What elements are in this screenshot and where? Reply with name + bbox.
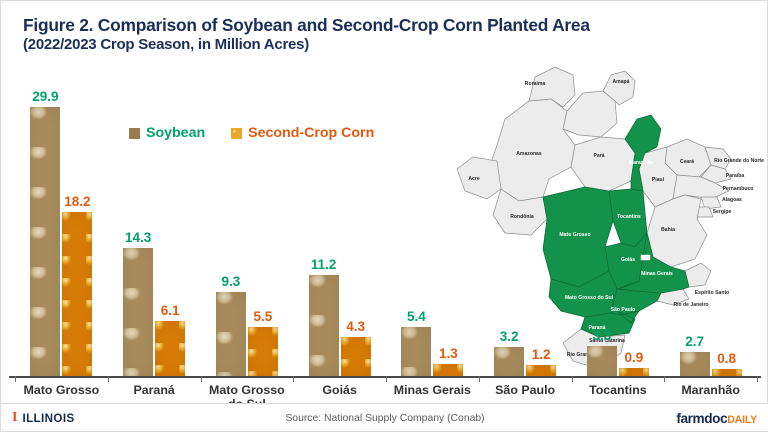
value-label-corn-5: 1.2 [520, 347, 562, 362]
bar-corn-4 [433, 364, 463, 376]
x-axis-tick [664, 376, 665, 382]
x-axis-tick [479, 376, 480, 382]
x-axis-tick [15, 376, 16, 382]
value-label-corn-3: 4.3 [335, 319, 377, 334]
value-label-soy-3: 11.2 [303, 257, 345, 272]
value-label-corn-6: 0.9 [613, 350, 655, 365]
value-label-soy-0: 29.9 [24, 89, 66, 104]
category-label-4: Minas Gerais [386, 383, 479, 397]
x-axis-tick [108, 376, 109, 382]
category-label-0: Mato Grosso [15, 383, 108, 397]
value-label-soy-4: 5.4 [395, 309, 437, 324]
x-axis-tick [757, 376, 758, 382]
figure-footer: I ILLINOIS Source: National Supply Compa… [1, 403, 768, 431]
source-note: Source: National Supply Company (Conab) [1, 413, 768, 424]
bar-soy-0 [30, 107, 60, 376]
bar-chart-plot: 29.918.214.36.19.35.511.24.35.41.33.21.2… [1, 59, 768, 379]
bar-corn-2 [248, 327, 278, 376]
farmdoc-daily-logo: farmdoc DAILY [676, 411, 757, 426]
x-axis-tick [386, 376, 387, 382]
bar-corn-7 [712, 369, 742, 376]
x-axis-tick [572, 376, 573, 382]
figure-canvas: Figure 2. Comparison of Soybean and Seco… [0, 0, 768, 432]
bar-soy-2 [216, 292, 246, 376]
category-label-5: São Paulo [479, 383, 572, 397]
bar-corn-5 [526, 365, 556, 376]
value-label-corn-0: 18.2 [56, 194, 98, 209]
value-label-soy-5: 3.2 [488, 329, 530, 344]
x-axis-tick [201, 376, 202, 382]
value-label-corn-2: 5.5 [242, 309, 284, 324]
category-label-7: Maranhão [664, 383, 757, 397]
value-label-soy-7: 2.7 [674, 334, 716, 349]
x-axis-line [9, 376, 761, 378]
value-label-corn-4: 1.3 [427, 346, 469, 361]
daily-wordmark: DAILY [727, 414, 757, 426]
value-label-corn-7: 0.8 [706, 351, 748, 366]
value-label-corn-1: 6.1 [149, 303, 191, 318]
category-label-3: Goiás [293, 383, 386, 397]
category-label-6: Tocantins [572, 383, 665, 397]
value-label-soy-1: 14.3 [117, 230, 159, 245]
bar-corn-1 [155, 321, 185, 376]
bar-corn-0 [62, 212, 92, 376]
bar-corn-3 [341, 337, 371, 376]
bar-corn-6 [619, 368, 649, 376]
figure-title: Figure 2. Comparison of Soybean and Seco… [23, 15, 753, 35]
value-label-soy-2: 9.3 [210, 274, 252, 289]
x-axis-tick [293, 376, 294, 382]
value-label-soy-6: 3.3 [581, 328, 623, 343]
farmdoc-wordmark: farmdoc [676, 411, 727, 426]
category-label-1: Paraná [108, 383, 201, 397]
